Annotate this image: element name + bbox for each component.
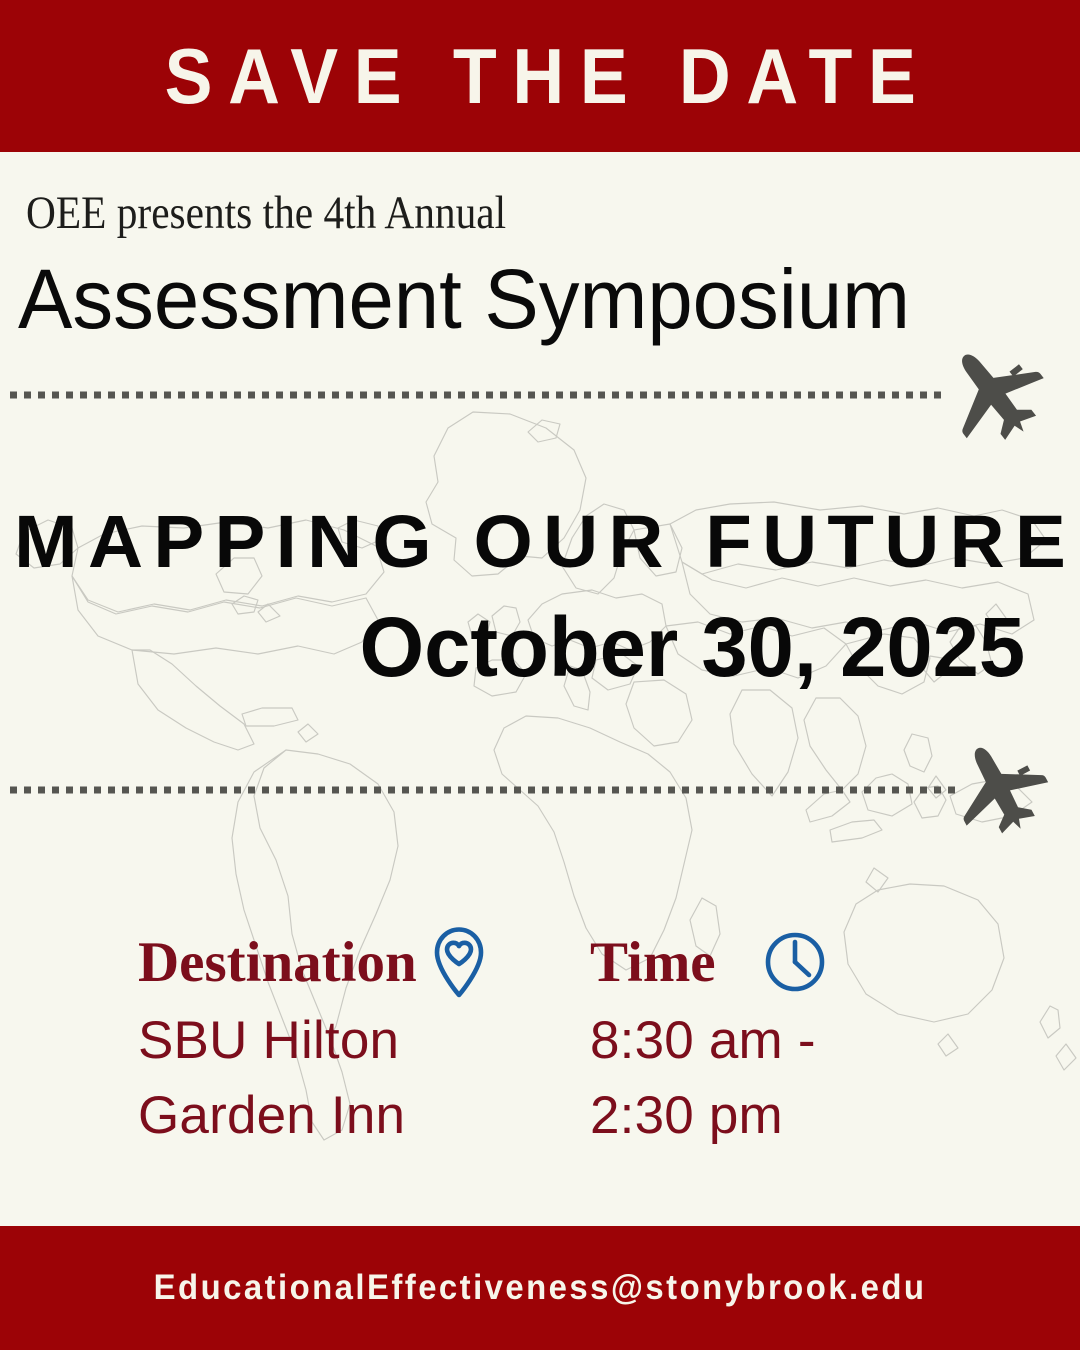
main-title-block: MAPPING OUR FUTURE October 30, 2025 (0, 505, 1080, 689)
clock-icon (764, 931, 826, 993)
dotted-flight-path-line (10, 392, 946, 399)
time-block: Time 8:30 am - 2:30 pm (590, 925, 826, 1154)
save-the-date-banner: SAVE THE DATE (0, 0, 1080, 152)
flight-path-top (10, 391, 1080, 399)
destination-label: Destination (138, 934, 417, 991)
destination-block: Destination SBU Hilton Garden Inn (138, 925, 487, 1154)
event-date: October 30, 2025 (5, 605, 1074, 689)
contact-email[interactable]: EducationalEffectiveness@stonybrook.edu (154, 1268, 927, 1308)
intro-block: OEE presents the 4th Annual (26, 190, 572, 237)
contact-banner: EducationalEffectiveness@stonybrook.edu (0, 1226, 1080, 1350)
airplane-icon (918, 318, 1072, 472)
intro-presenter-line: OEE presents the 4th Annual (26, 190, 506, 237)
time-label: Time (590, 934, 716, 991)
time-line-1: 8:30 am - (590, 1003, 826, 1078)
flight-path-bottom (10, 786, 1080, 794)
destination-line-1: SBU Hilton (138, 1003, 487, 1078)
time-header: Time (590, 925, 826, 999)
destination-header: Destination (138, 925, 487, 999)
time-value: 8:30 am - 2:30 pm (590, 1003, 826, 1154)
save-the-date-title: SAVE THE DATE (149, 37, 931, 115)
map-pin-heart-icon (431, 926, 487, 998)
airplane-icon (930, 720, 1071, 861)
event-name-heading: Assessment Symposium (18, 255, 910, 343)
dotted-flight-path-line (10, 787, 955, 794)
destination-line-2: Garden Inn (138, 1078, 487, 1153)
destination-value: SBU Hilton Garden Inn (138, 1003, 487, 1154)
save-the-date-poster: SAVE THE DATE OEE presents the 4th Annua… (0, 0, 1080, 1350)
time-line-2: 2:30 pm (590, 1078, 826, 1153)
symposium-theme-title: MAPPING OUR FUTURE (0, 505, 1080, 579)
